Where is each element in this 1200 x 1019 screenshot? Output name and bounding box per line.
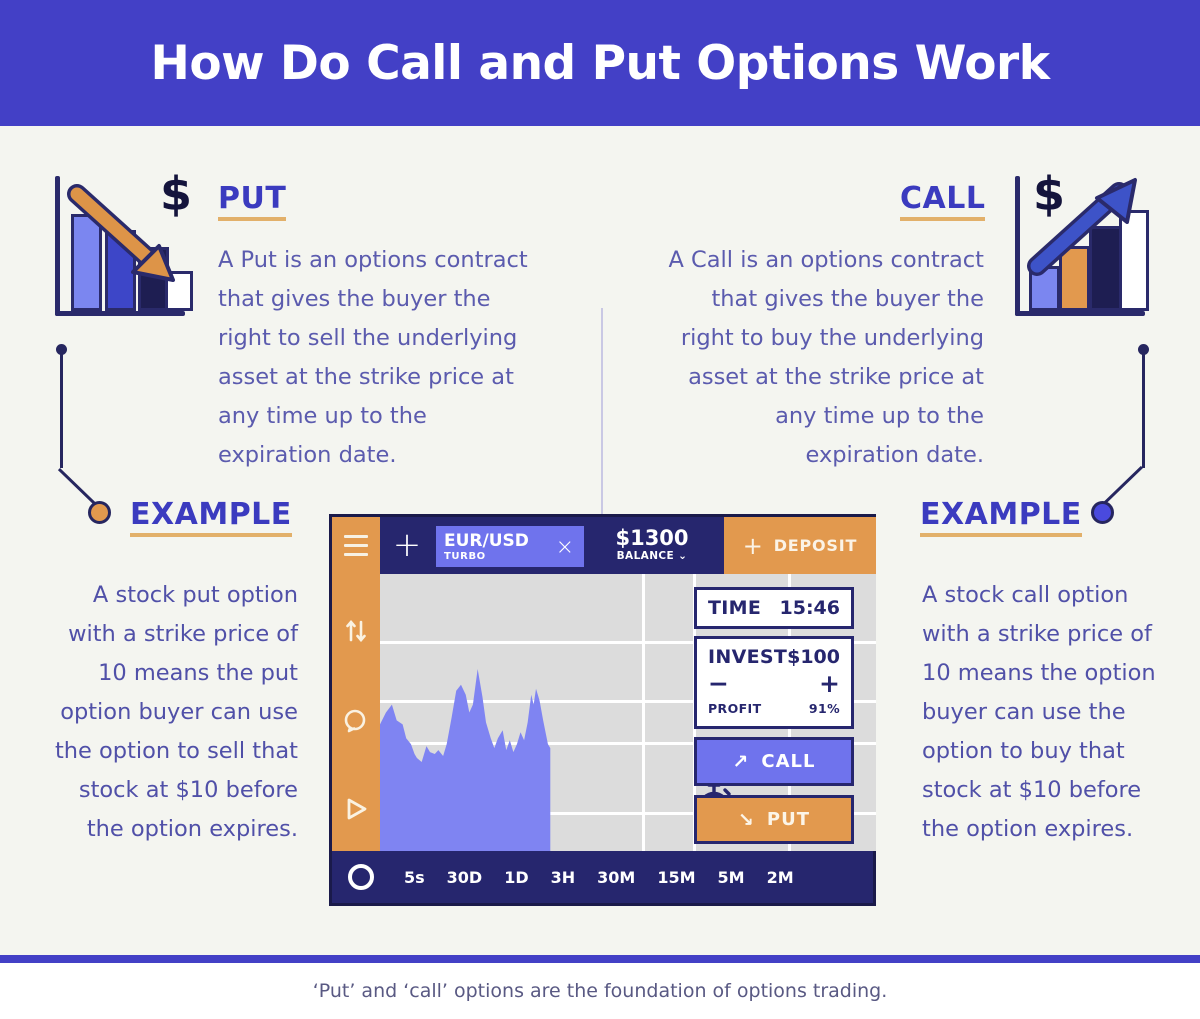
invest-stepper: − + (708, 674, 840, 694)
call-example-heading-text: EXAMPLE (920, 500, 1082, 537)
time-value: 15:46 (780, 597, 840, 619)
hamburger-line (344, 544, 368, 547)
balance-display[interactable]: $1300 BALANCE ⌄ (600, 527, 704, 562)
put-heading-text: PUT (218, 184, 286, 221)
timeframe-option[interactable]: 30D (447, 868, 483, 887)
balance-amount: $1300 (600, 527, 704, 550)
connector-line-vertical (60, 350, 63, 468)
put-example-body: A stock put option with a strike price o… (48, 576, 298, 849)
page-header: How Do Call and Put Options Work (0, 0, 1200, 126)
put-section-heading: PUT (218, 184, 286, 221)
put-trade-button[interactable]: ↘ PUT (694, 795, 854, 844)
profit-row: PROFIT 91% (708, 701, 840, 716)
ascending-bar-chart-icon: $ (1015, 176, 1145, 316)
descending-bar-chart-icon: $ (55, 176, 185, 316)
balance-label-text: BALANCE (617, 550, 674, 562)
sort-arrows-icon[interactable] (343, 618, 369, 649)
call-heading-text: CALL (900, 184, 985, 221)
infographic-page: How Do Call and Put Options Work $ PUT (0, 0, 1200, 1019)
invest-label: INVEST (708, 646, 787, 668)
plus-icon: + (743, 538, 764, 554)
trading-platform-widget: + EUR/USD TURBO × $1300 BALANCE ⌄ + DEPO… (329, 514, 876, 906)
chevron-down-icon: ⌄ (678, 550, 687, 562)
widget-top-bar: + EUR/USD TURBO × $1300 BALANCE ⌄ + DEPO… (332, 517, 873, 574)
put-button-label: PUT (767, 809, 810, 830)
timeframe-option[interactable]: 5s (404, 868, 425, 887)
chat-bubble-icon[interactable] (343, 707, 369, 738)
gridline-vertical-current (642, 574, 645, 851)
profit-value: 91% (809, 701, 840, 716)
play-icon[interactable] (343, 796, 369, 827)
timeframe-option[interactable]: 5M (718, 868, 745, 887)
call-example-heading: EXAMPLE (920, 500, 1082, 537)
dollar-sign-put: $ (160, 171, 192, 217)
hamburger-line (344, 535, 368, 538)
profit-label: PROFIT (708, 701, 762, 716)
timeframe-option[interactable]: 15M (657, 868, 695, 887)
dollar-sign-call: $ (1033, 171, 1065, 217)
invest-row: INVEST $100 (708, 646, 840, 668)
arrow-up-right-icon: ↗ (732, 751, 749, 773)
call-example-body: A stock call option with a strike price … (922, 576, 1172, 849)
asset-tab-eurusd[interactable]: EUR/USD TURBO × (436, 526, 584, 567)
connector-line-diagonal (1101, 466, 1143, 507)
record-circle-icon[interactable] (348, 864, 374, 890)
page-title: How Do Call and Put Options Work (151, 36, 1050, 91)
invest-value: $100 (787, 646, 840, 668)
footer-accent-bar (0, 955, 1200, 963)
call-section-heading: CALL (900, 184, 985, 221)
put-description: A Put is an options contract that gives … (218, 241, 540, 475)
increment-button[interactable]: + (819, 674, 840, 694)
invest-panel[interactable]: INVEST $100 − + PROFIT 91% (694, 636, 854, 729)
hamburger-line (344, 553, 368, 556)
call-button-label: CALL (761, 751, 815, 772)
connector-line-vertical (1142, 350, 1145, 468)
connector-ball-call (1091, 501, 1114, 524)
arrow-down-right-icon: ↘ (738, 809, 755, 831)
asset-type: TURBO (444, 551, 529, 562)
call-description: A Call is an options contract that gives… (662, 241, 984, 475)
timeframe-bar: 5s 30D 1D 3H 30M 15M 5M 2M (332, 851, 873, 903)
footer-caption: ‘Put’ and ‘call’ options are the foundat… (313, 980, 888, 1002)
hamburger-menu-icon[interactable] (332, 517, 380, 574)
timeframe-option[interactable]: 1D (504, 868, 528, 887)
call-trade-button[interactable]: ↗ CALL (694, 737, 854, 786)
put-example-heading: EXAMPLE (130, 500, 292, 537)
time-label: TIME (708, 597, 761, 619)
price-area-series (380, 574, 642, 851)
deposit-label: DEPOSIT (774, 536, 858, 555)
connector-ball-put (88, 501, 111, 524)
timeframe-option[interactable]: 30M (597, 868, 635, 887)
decrement-button[interactable]: − (708, 674, 729, 694)
deposit-button[interactable]: + DEPOSIT (724, 517, 876, 574)
close-icon[interactable]: × (556, 535, 574, 560)
put-example-heading-text: EXAMPLE (130, 500, 292, 537)
widget-tool-rail (332, 574, 380, 851)
timeframe-option[interactable]: 2M (767, 868, 794, 887)
timeframe-list: 5s 30D 1D 3H 30M 15M 5M 2M (404, 868, 794, 887)
footer: ‘Put’ and ‘call’ options are the foundat… (0, 963, 1200, 1019)
add-asset-button[interactable]: + (392, 531, 422, 561)
balance-label: BALANCE ⌄ (600, 550, 704, 562)
timeframe-option[interactable]: 3H (551, 868, 576, 887)
asset-symbol: EUR/USD (444, 532, 529, 551)
time-panel[interactable]: TIME 15:46 (694, 587, 854, 629)
